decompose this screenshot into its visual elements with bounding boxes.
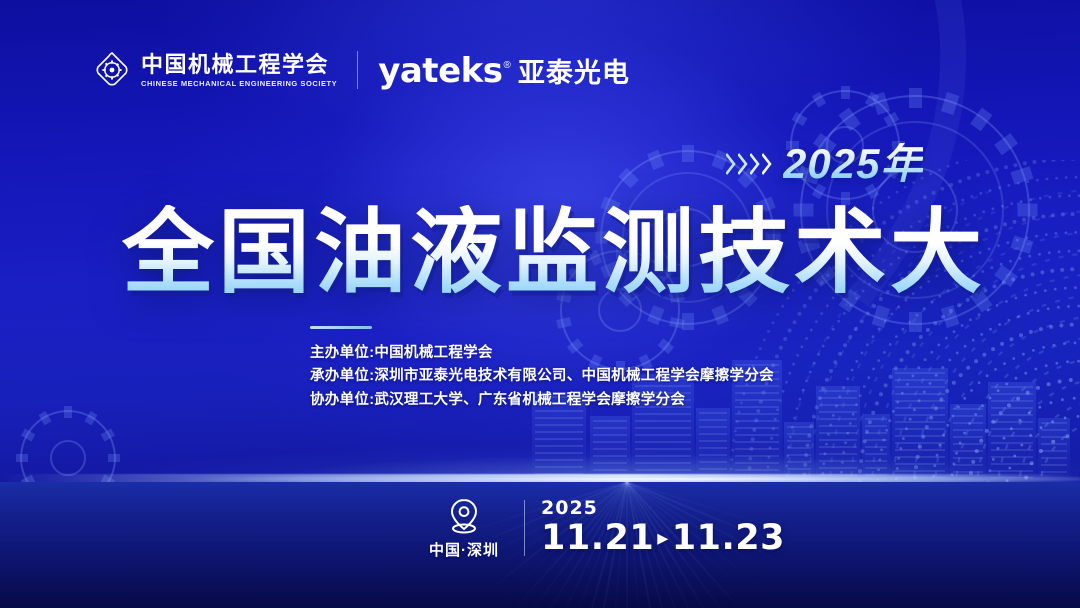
building-silhouette xyxy=(696,408,730,478)
year-text: 2025年 xyxy=(783,143,923,185)
building-silhouette xyxy=(950,404,986,478)
date-block: 2025 11.21▸11.23 xyxy=(541,498,785,557)
logo-bar: 中国机械工程学会 CHINESE MECHANICAL ENGINEERING … xyxy=(92,44,630,96)
building-silhouette xyxy=(988,382,1036,478)
organizer-line: 协办单位:武汉理工大学、广东省机械工程学会摩擦学分会 xyxy=(310,389,774,412)
logo-divider xyxy=(357,51,358,89)
year-line: 2025年 xyxy=(726,143,923,185)
page-title: 全国油液监测技术大会 xyxy=(122,205,982,302)
yateks-chinese-name: 亚泰光电 xyxy=(518,51,630,90)
horizon-line xyxy=(0,474,1080,484)
chevron-right-triple-icon xyxy=(726,153,773,175)
building-silhouette xyxy=(1038,418,1070,478)
building-silhouette xyxy=(892,368,948,478)
conference-poster: 中国机械工程学会 CHINESE MECHANICAL ENGINEERING … xyxy=(0,0,1080,608)
cmes-gear-diamond-emblem-icon xyxy=(92,50,132,90)
date-range: 11.21▸11.23 xyxy=(541,520,785,557)
building-silhouette xyxy=(816,386,860,478)
date-start: 11.21 xyxy=(541,518,654,558)
organizer-line: 承办单位:深圳市亚泰光电技术有限公司、中国机械工程学会摩擦学分会 xyxy=(310,365,774,388)
date-year: 2025 xyxy=(541,498,785,519)
location-block: 中国·深圳 xyxy=(418,498,510,560)
cmes-chinese-name: 中国机械工程学会 xyxy=(141,52,337,77)
registered-trademark-icon: ® xyxy=(503,60,510,71)
gear-decoration-icon xyxy=(20,410,116,506)
footer-info: 中国·深圳 2025 11.21▸11.23 xyxy=(418,498,785,560)
building-silhouette xyxy=(862,414,890,478)
organizer-divider xyxy=(310,326,372,329)
building-silhouette xyxy=(784,422,814,478)
building-silhouette xyxy=(590,416,630,478)
organizer-list: 主办单位:中国机械工程学会 承办单位:深圳市亚泰光电技术有限公司、中国机械工程学… xyxy=(310,342,774,412)
footer-divider xyxy=(524,500,525,556)
cmes-logo[interactable]: 中国机械工程学会 CHINESE MECHANICAL ENGINEERING … xyxy=(92,50,337,90)
date-end: 11.23 xyxy=(672,518,785,558)
cmes-english-name: CHINESE MECHANICAL ENGINEERING SOCIETY xyxy=(141,79,337,88)
organizer-line: 主办单位:中国机械工程学会 xyxy=(310,342,774,365)
map-pin-icon xyxy=(447,498,481,536)
yateks-logo[interactable]: yateks ® 亚泰光电 xyxy=(378,51,630,90)
yateks-wordmark: yateks xyxy=(378,54,502,88)
date-separator-icon: ▸ xyxy=(657,526,669,551)
location-label: 中国·深圳 xyxy=(429,539,499,560)
